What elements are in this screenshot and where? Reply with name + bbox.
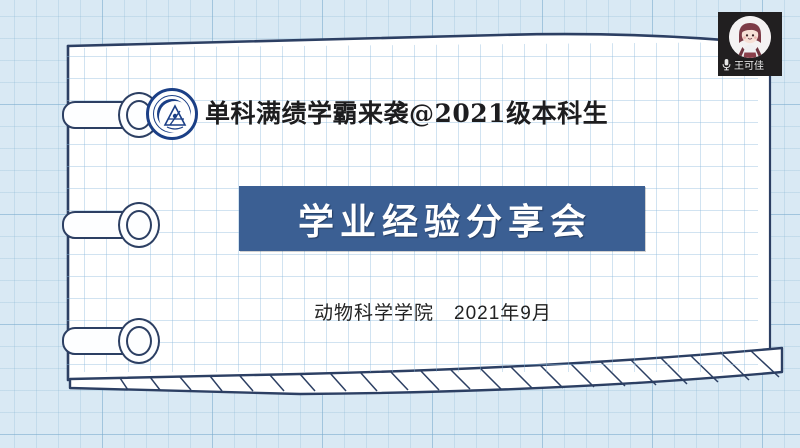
slide-title: 学业经验分享会: [292, 193, 592, 245]
webcam-tile[interactable]: 王可佳: [718, 12, 782, 76]
cartoon-girl-avatar-icon: [729, 16, 771, 58]
binder-ring-1: [62, 92, 158, 134]
university-emblem-icon: [146, 88, 198, 140]
slide-subtitle: 动物科学学院 2021年9月: [314, 298, 552, 325]
microphone-icon: [721, 58, 732, 71]
ring-eye-inner: [126, 210, 152, 240]
ring-eye-inner: [126, 326, 152, 356]
binder-ring-2: [62, 202, 158, 244]
slide-headline: 单科满绩学霸来袭@2021级本科生: [205, 92, 608, 136]
participant-name: 王可佳: [734, 57, 764, 72]
binder-ring-3: [62, 318, 158, 360]
emblem-mark: [158, 100, 192, 134]
participant-name-row: 王可佳: [721, 57, 764, 72]
title-banner: 学业经验分享会: [239, 186, 645, 251]
avatar: [729, 16, 771, 58]
